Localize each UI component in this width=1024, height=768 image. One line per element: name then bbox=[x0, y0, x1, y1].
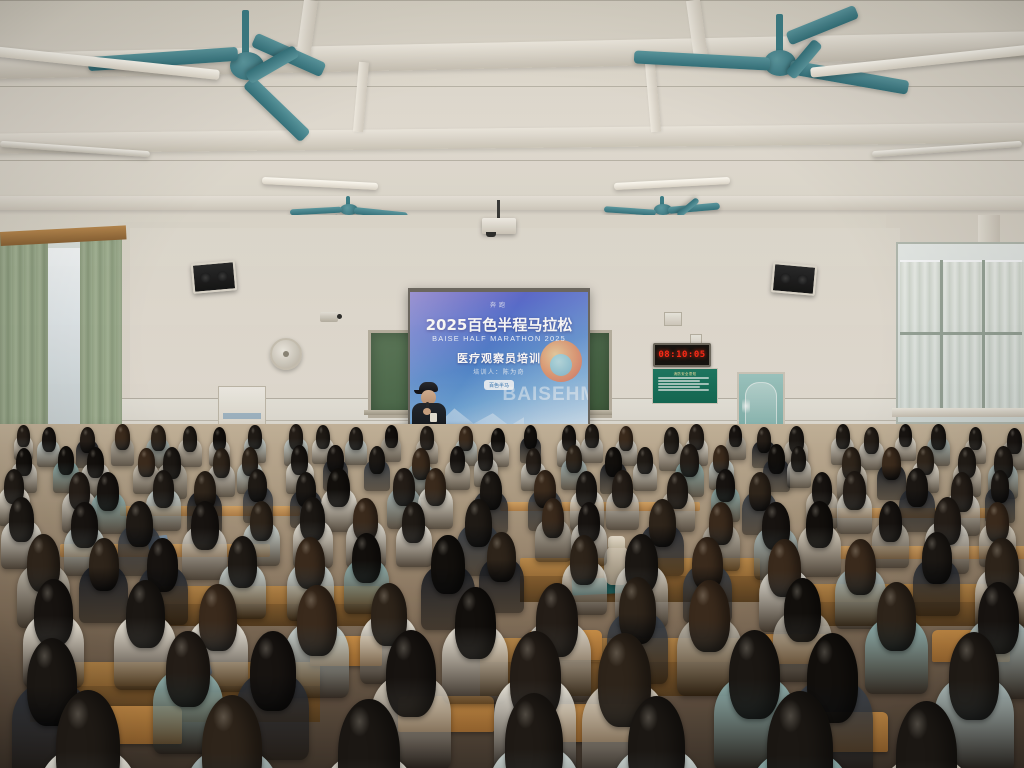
audience-member bbox=[864, 427, 879, 469]
window-curtain bbox=[80, 232, 122, 428]
audience-member bbox=[845, 539, 877, 625]
presenter-badge bbox=[430, 413, 437, 422]
audience-member bbox=[729, 425, 741, 459]
slide-title-en: BAISE HALF MARATHON 2025 bbox=[410, 334, 588, 343]
audience-member-head bbox=[767, 691, 833, 768]
audience-member-head bbox=[505, 693, 563, 768]
led-clock-time: 08:10:05 bbox=[658, 350, 705, 360]
audience-member bbox=[882, 447, 901, 498]
audience-member-head bbox=[338, 699, 399, 768]
audience-member bbox=[899, 424, 912, 460]
audience-member bbox=[97, 472, 119, 532]
audience-member-head bbox=[202, 695, 262, 768]
audience-member bbox=[450, 446, 465, 487]
audience-member bbox=[628, 696, 685, 768]
wall-speaker bbox=[191, 260, 237, 294]
surveillance-camera bbox=[320, 312, 338, 322]
notice-board: 消防安全须知 bbox=[652, 368, 718, 404]
audience-member bbox=[505, 693, 563, 768]
audience-seating-area bbox=[0, 424, 1024, 768]
audience-member bbox=[637, 447, 652, 489]
projector-lens bbox=[486, 232, 496, 237]
ceiling-fan bbox=[150, 10, 380, 120]
audience-member bbox=[369, 446, 385, 489]
audience-member bbox=[896, 701, 957, 768]
audience-member bbox=[183, 426, 198, 465]
audience-member bbox=[922, 532, 951, 612]
slide-badge: 百色半马 bbox=[484, 380, 514, 390]
audience-member bbox=[879, 501, 903, 565]
wall-speaker bbox=[771, 262, 817, 296]
notice-board-heading: 消防安全须知 bbox=[656, 371, 714, 376]
audience-member bbox=[767, 691, 833, 768]
lecture-hall-photo: 奔跑 2025百色半程马拉松 BAISE HALF MARATHON 2025 … bbox=[0, 0, 1024, 768]
slide-presenter-line: 培训人：陈为奇 bbox=[410, 367, 588, 376]
audience-member bbox=[126, 580, 165, 686]
audience-member bbox=[191, 501, 219, 577]
audience-member bbox=[202, 695, 262, 768]
audience-member bbox=[612, 470, 633, 527]
window-curtain bbox=[900, 262, 1024, 410]
audience-member bbox=[877, 582, 916, 689]
slide-subtitle-cn: 医疗观察员培训 bbox=[410, 350, 588, 366]
audience-member bbox=[385, 425, 398, 460]
audience-member bbox=[542, 498, 565, 560]
window-sill bbox=[892, 408, 1024, 417]
audience-member bbox=[906, 468, 929, 530]
audience-member bbox=[768, 444, 785, 490]
audience-member bbox=[327, 468, 349, 529]
ceiling-beam bbox=[0, 196, 1024, 210]
slide-title-cn: 2025百色半程马拉松 bbox=[410, 314, 588, 335]
led-clock: 08:10:05 bbox=[653, 343, 711, 367]
audience-member bbox=[689, 580, 730, 692]
slide-decor-text: 奔跑 bbox=[410, 300, 588, 309]
audience-member bbox=[297, 585, 337, 694]
slide-watermark: BAISEHM bbox=[503, 384, 588, 406]
audience-member bbox=[806, 501, 833, 573]
right-window bbox=[896, 242, 1024, 424]
audience-member bbox=[89, 538, 119, 620]
left-window bbox=[0, 232, 122, 428]
audience-member bbox=[338, 699, 399, 768]
audience-member bbox=[664, 427, 679, 468]
audience-member-head bbox=[628, 696, 685, 768]
audience-member-head bbox=[896, 701, 957, 768]
audience-member bbox=[791, 446, 806, 487]
audience-member bbox=[585, 424, 599, 461]
projector-mount bbox=[497, 200, 500, 220]
wall-box bbox=[664, 312, 682, 326]
window-curtain bbox=[0, 232, 48, 428]
audience-member bbox=[455, 587, 496, 699]
audience-member bbox=[349, 427, 363, 464]
window-glass bbox=[44, 248, 84, 428]
wall-mounted-fan bbox=[270, 338, 302, 370]
ceiling-beam bbox=[0, 122, 1024, 154]
audience-member bbox=[425, 468, 447, 526]
audience-member bbox=[56, 690, 120, 768]
audience-member bbox=[42, 427, 56, 465]
audience-member bbox=[402, 502, 425, 564]
audience-member bbox=[115, 424, 130, 464]
audience-member bbox=[153, 470, 175, 529]
audience-member bbox=[843, 471, 865, 531]
audience-member-head bbox=[56, 690, 120, 768]
